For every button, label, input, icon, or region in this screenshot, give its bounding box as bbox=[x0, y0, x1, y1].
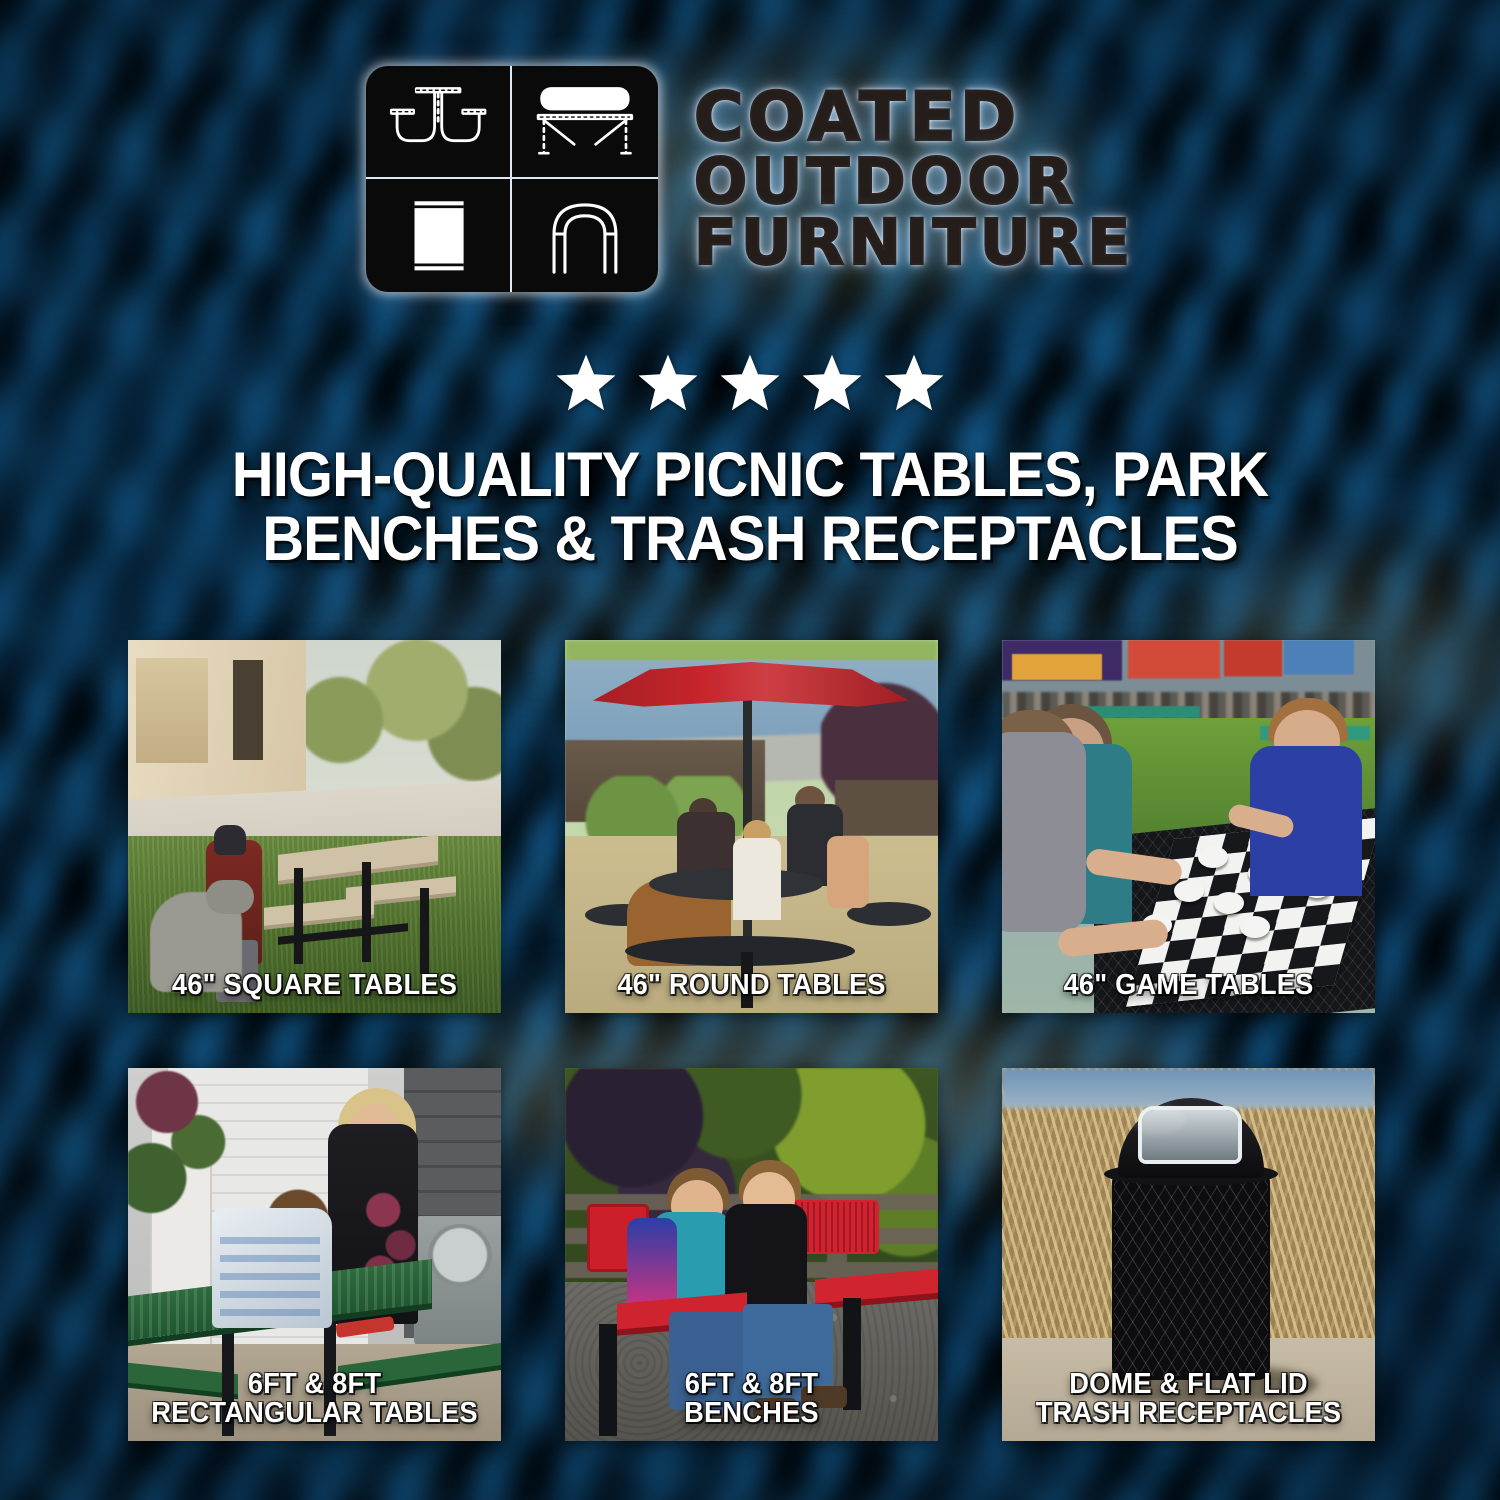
product-tile-benches[interactable]: 6FT & 8FT BENCHES bbox=[565, 1068, 938, 1441]
caption-line-2: TRASH RECEPTACLES bbox=[1019, 1399, 1358, 1429]
brand-name-line-1: COATED bbox=[694, 86, 1135, 150]
product-grid: 46" SQUARE TABLES bbox=[128, 640, 1376, 1441]
product-tile-round-tables[interactable]: 46" ROUND TABLES bbox=[565, 640, 938, 1013]
promo-banner: COATED OUTDOOR FURNITURE HIGH-QUALITY PI… bbox=[0, 0, 1500, 1500]
product-caption: 6FT & 8FT RECTANGULAR TABLES bbox=[145, 1370, 484, 1429]
product-tile-rectangular-tables[interactable]: 6FT & 8FT RECTANGULAR TABLES bbox=[128, 1068, 501, 1441]
product-caption: 46" ROUND TABLES bbox=[582, 971, 921, 1001]
star-icon bbox=[882, 352, 946, 414]
bike-rack-arch-icon bbox=[512, 179, 658, 292]
product-caption: DOME & FLAT LID TRASH RECEPTACLES bbox=[1019, 1370, 1358, 1429]
caption-line-1: 46" SQUARE TABLES bbox=[145, 971, 484, 1001]
caption-line-1: 46" ROUND TABLES bbox=[582, 971, 921, 1001]
park-bench-icon bbox=[512, 66, 658, 179]
product-photo-game-tables bbox=[1002, 640, 1375, 1013]
picnic-table-icon bbox=[366, 66, 512, 179]
page-title: HIGH-QUALITY PICNIC TABLES, PARK BENCHES… bbox=[115, 443, 1385, 572]
product-tile-trash-receptacles[interactable]: DOME & FLAT LID TRASH RECEPTACLES bbox=[1002, 1068, 1375, 1441]
caption-line-2: RECTANGULAR TABLES bbox=[145, 1399, 484, 1429]
brand-name-line-2: OUTDOOR bbox=[694, 152, 1135, 211]
star-icon bbox=[718, 352, 782, 414]
caption-line-1: 6FT & 8FT bbox=[582, 1370, 921, 1400]
brand-logo: COATED OUTDOOR FURNITURE bbox=[0, 66, 1500, 292]
headline-line-2: BENCHES & TRASH RECEPTACLES bbox=[115, 507, 1385, 571]
product-photo-round-tables bbox=[565, 640, 938, 1013]
product-caption: 6FT & 8FT BENCHES bbox=[582, 1370, 921, 1429]
caption-line-2: BENCHES bbox=[582, 1399, 921, 1429]
brand-wordmark: COATED OUTDOOR FURNITURE bbox=[694, 86, 1135, 272]
product-tile-square-tables[interactable]: 46" SQUARE TABLES bbox=[128, 640, 501, 1013]
star-icon bbox=[636, 352, 700, 414]
product-caption: 46" GAME TABLES bbox=[1019, 971, 1358, 1001]
brand-name-line-3: FURNITURE bbox=[694, 213, 1135, 272]
product-caption: 46" SQUARE TABLES bbox=[145, 971, 484, 1001]
caption-line-1: 46" GAME TABLES bbox=[1019, 971, 1358, 1001]
trash-receptacle-icon bbox=[366, 179, 512, 292]
product-tile-game-tables[interactable]: 46" GAME TABLES bbox=[1002, 640, 1375, 1013]
star-icon bbox=[800, 352, 864, 414]
product-photo-square-tables bbox=[128, 640, 501, 1013]
headline-line-1: HIGH-QUALITY PICNIC TABLES, PARK bbox=[115, 443, 1385, 507]
star-icon bbox=[554, 352, 618, 414]
star-rating bbox=[0, 352, 1500, 414]
caption-line-1: 6FT & 8FT bbox=[145, 1370, 484, 1400]
logo-icon-grid bbox=[366, 66, 658, 292]
caption-line-1: DOME & FLAT LID bbox=[1019, 1370, 1358, 1400]
